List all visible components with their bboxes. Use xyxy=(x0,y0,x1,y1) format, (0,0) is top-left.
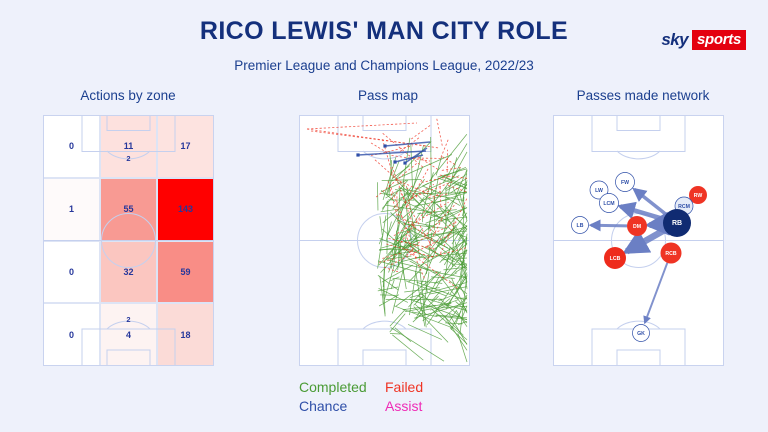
legend-chance: Chance xyxy=(299,397,385,416)
network-node-label-DM: DM xyxy=(633,224,641,230)
zone-cell-attacking-third-left: 0 xyxy=(43,115,100,178)
legend-completed: Completed xyxy=(299,378,385,397)
network-node-label-LW: LW xyxy=(595,188,603,194)
pass-map-panel-border xyxy=(299,115,470,366)
panel-title-passes-made-network: Passes made network xyxy=(528,88,758,103)
network-edge-RB-to-FW xyxy=(634,189,666,214)
sky-wordmark: sky xyxy=(661,30,688,50)
network-edge-DM-to-LB xyxy=(591,225,627,226)
actions-by-zone-panel: 01117155143032590418 2 2 xyxy=(43,115,214,366)
network-node-DM[interactable]: DM xyxy=(627,216,647,236)
zone-cell-attacking-third-centre: 11 xyxy=(100,115,157,178)
pass-trajectories xyxy=(299,115,470,366)
network-node-label-FW: FW xyxy=(621,180,629,186)
page-subtitle: Premier League and Champions League, 202… xyxy=(0,58,768,73)
panel-title-actions-by-zone: Actions by zone xyxy=(13,88,243,103)
network-node-label-RCM: RCM xyxy=(678,204,690,210)
network-panel-border xyxy=(553,115,724,366)
legend-row-1: Completed Failed xyxy=(299,378,499,397)
zone-cell-lower-middle-left: 0 xyxy=(43,241,100,304)
sky-sports-logo: sky sports xyxy=(661,30,746,49)
network-node-label-RCB: RCB xyxy=(665,251,676,257)
infographic-canvas: RICO LEWIS' MAN CITY ROLE Premier League… xyxy=(0,0,768,432)
pitch-markings-passmap xyxy=(299,115,470,366)
network-edge-RB-to-DM xyxy=(649,224,663,225)
network-node-RCB[interactable]: RCB xyxy=(661,243,682,264)
zone-cell-upper-middle-left: 1 xyxy=(43,178,100,241)
zone-heatmap-grid: 01117155143032590418 xyxy=(43,115,214,366)
sports-wordmark: sports xyxy=(692,30,746,50)
zone-cell-lower-middle-centre: 32 xyxy=(100,241,157,304)
pitch-markings-network xyxy=(553,115,724,366)
network-node-LW[interactable]: LW xyxy=(590,181,608,199)
legend-failed: Failed xyxy=(385,378,423,397)
network-node-label-LCB: LCB xyxy=(610,256,621,262)
network-node-label-GK: GK xyxy=(637,331,645,337)
network-edge-RB-to-LCM xyxy=(621,206,664,219)
network-edge-RCB-to-GK xyxy=(645,263,667,323)
zone-cell-defensive-third-left: 0 xyxy=(43,303,100,366)
legend-row-2: Chance Assist xyxy=(299,397,499,416)
network-node-LCM[interactable]: LCM xyxy=(600,194,619,213)
zone-cell-upper-middle-right: 143 xyxy=(157,178,214,241)
network-edge-RB-to-LCB xyxy=(627,230,665,251)
network-node-label-RB: RB xyxy=(672,220,682,227)
pass-map-panel xyxy=(299,115,470,366)
network-node-RB[interactable]: RB xyxy=(663,209,691,237)
network-node-LCB[interactable]: LCB xyxy=(604,247,626,269)
page-title: RICO LEWIS' MAN CITY ROLE xyxy=(0,17,768,46)
network-node-label-LB: LB xyxy=(577,223,584,229)
network-graph: FWLWRWLCMRCMLBDMRBRCBLCBGK xyxy=(553,115,724,366)
panel-title-pass-map: Pass map xyxy=(273,88,503,103)
zone-cell-lower-middle-right: 59 xyxy=(157,241,214,304)
zone-cell-defensive-third-right: 18 xyxy=(157,303,214,366)
network-node-RCM[interactable]: RCM xyxy=(675,197,693,215)
network-node-GK[interactable]: GK xyxy=(633,325,650,342)
legend-assist: Assist xyxy=(385,397,422,416)
zone-cell-defensive-third-centre: 4 xyxy=(100,303,157,366)
network-edge-RB-to-RCM xyxy=(680,210,683,217)
network-node-label-LCM: LCM xyxy=(603,201,614,207)
zone-cell-attacking-third-right: 17 xyxy=(157,115,214,178)
zone-cell-upper-middle-centre: 55 xyxy=(100,178,157,241)
passes-made-network-panel: FWLWRWLCMRCMLBDMRBRCBLCBGK xyxy=(553,115,724,366)
network-node-LB[interactable]: LB xyxy=(572,217,589,234)
network-node-FW[interactable]: FW xyxy=(616,173,635,192)
network-node-label-RW: RW xyxy=(694,193,703,199)
network-node-RW[interactable]: RW xyxy=(689,186,707,204)
pass-map-legend: Completed Failed Chance Assist xyxy=(299,378,499,416)
